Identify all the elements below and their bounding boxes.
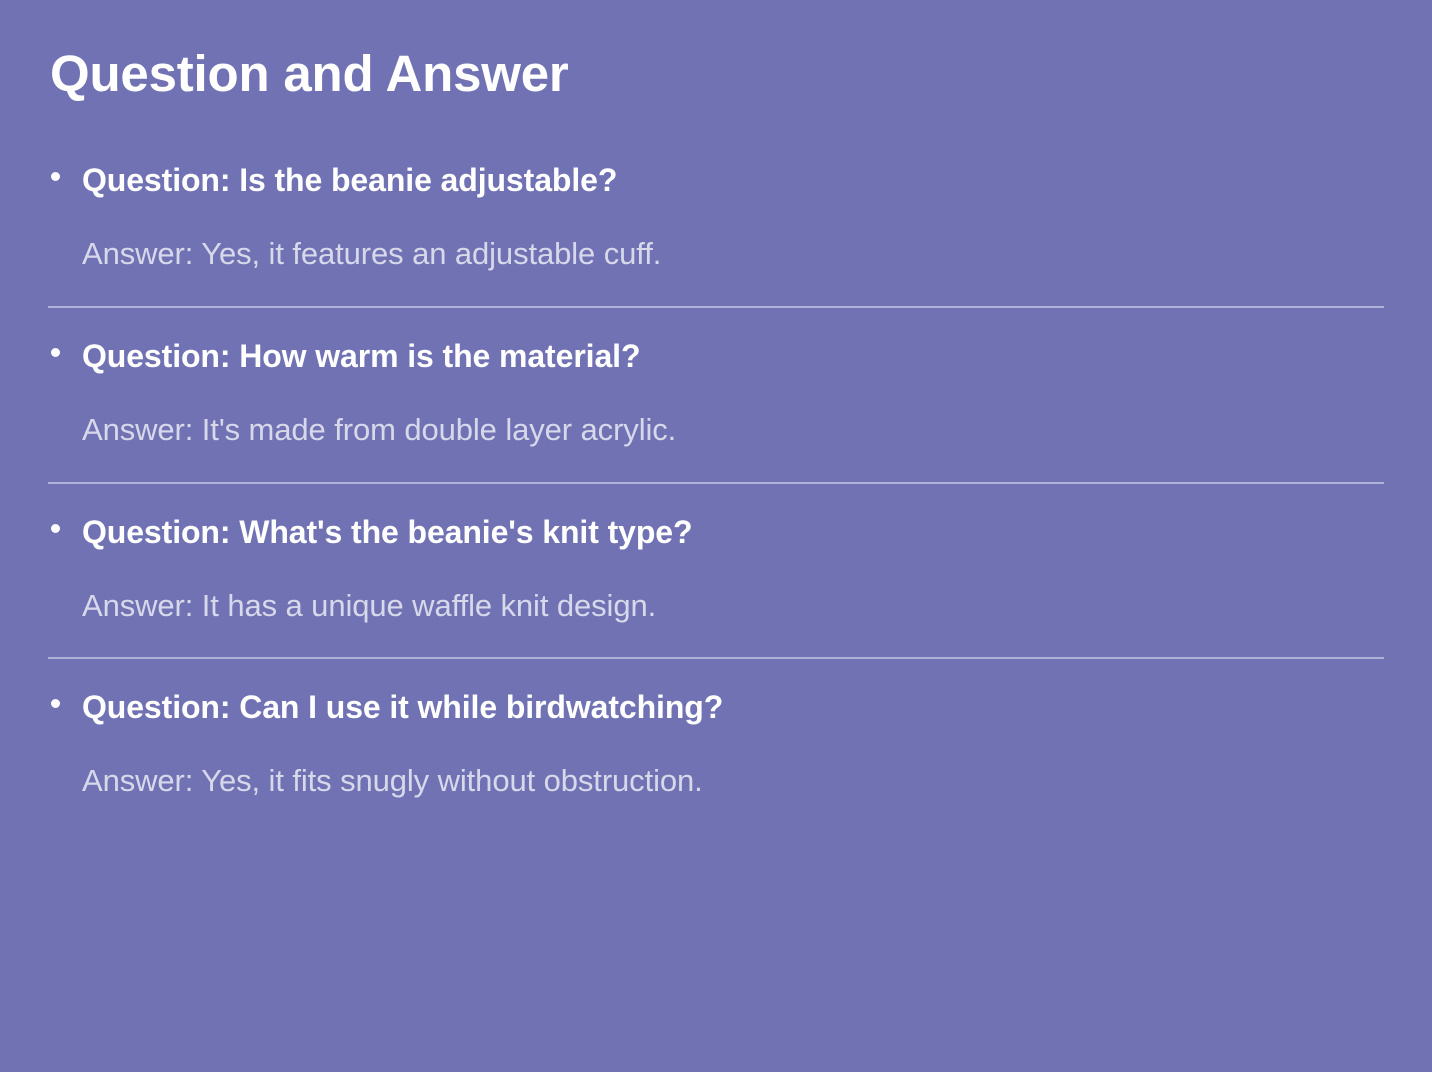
bullet-dot-icon — [51, 172, 60, 181]
qa-list: Question: Is the beanie adjustable? Answ… — [48, 104, 1384, 801]
qa-answer-text: Answer: Yes, it fits snugly without obst… — [48, 727, 1384, 801]
qa-page: Question and Answer Question: Is the bea… — [0, 0, 1432, 1072]
qa-question-text: Question: Is the beanie adjustable? — [82, 162, 617, 198]
qa-question-text: Question: Can I use it while birdwatchin… — [82, 689, 723, 725]
qa-question: Question: What's the beanie's knit type? — [48, 484, 1384, 552]
qa-answer-text: Answer: It has a unique waffle knit desi… — [48, 552, 1384, 626]
qa-question-text: Question: How warm is the material? — [82, 338, 640, 374]
qa-answer-text: Answer: It's made from double layer acry… — [48, 376, 1384, 450]
qa-item: Question: Is the beanie adjustable? Answ… — [48, 132, 1384, 308]
bullet-dot-icon — [51, 524, 60, 533]
qa-answer-text: Answer: Yes, it features an adjustable c… — [48, 200, 1384, 274]
bullet-dot-icon — [51, 699, 60, 708]
qa-item: Question: How warm is the material? Answ… — [48, 308, 1384, 484]
page-title: Question and Answer — [48, 0, 1384, 104]
qa-item: Question: What's the beanie's knit type?… — [48, 484, 1384, 660]
qa-question-text: Question: What's the beanie's knit type? — [82, 514, 692, 550]
qa-question: Question: Can I use it while birdwatchin… — [48, 659, 1384, 727]
qa-question: Question: How warm is the material? — [48, 308, 1384, 376]
qa-question: Question: Is the beanie adjustable? — [48, 132, 1384, 200]
qa-item: Question: Can I use it while birdwatchin… — [48, 659, 1384, 801]
bullet-dot-icon — [51, 348, 60, 357]
